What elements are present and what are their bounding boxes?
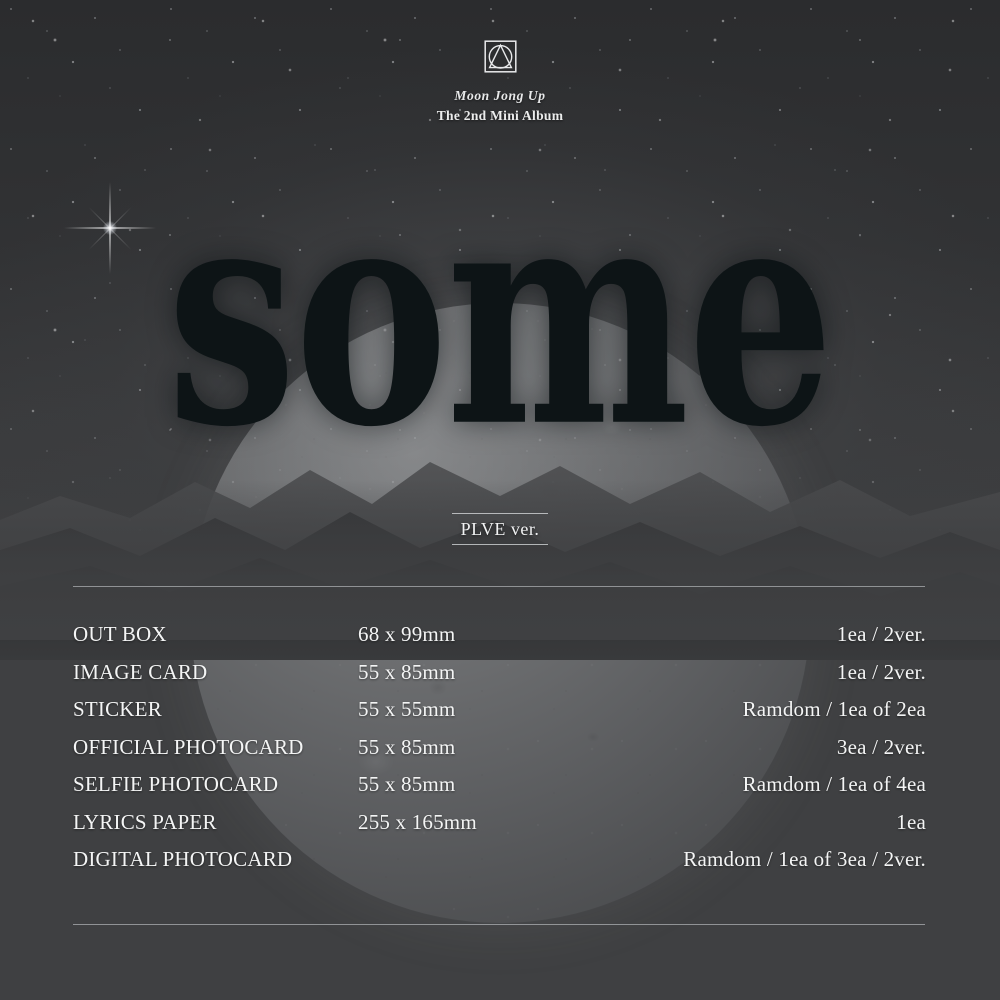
spec-item-quantity: 3ea / 2ver. (638, 735, 926, 760)
version-label: PLVE ver. (0, 514, 1000, 544)
version-rule-bottom (452, 544, 548, 545)
spec-row: OFFICIAL PHOTOCARD55 x 85mm3ea / 2ver. (73, 735, 926, 773)
spec-item-size: 55 x 85mm (358, 735, 638, 760)
triangle-in-circle-in-square-logo-icon (484, 40, 517, 73)
spec-item-name: IMAGE CARD (73, 660, 358, 685)
spec-row: LYRICS PAPER255 x 165mm1ea (73, 810, 926, 848)
spec-item-quantity: Ramdom / 1ea of 3ea / 2ver. (638, 847, 926, 872)
spec-item-quantity: 1ea / 2ver. (638, 660, 926, 685)
album-subtitle: The 2nd Mini Album (0, 108, 1000, 124)
spec-item-quantity: 1ea / 2ver. (638, 622, 926, 647)
spec-row: DIGITAL PHOTOCARDRamdom / 1ea of 3ea / 2… (73, 847, 926, 885)
spec-divider-top (73, 586, 925, 587)
spec-item-size: 255 x 165mm (358, 810, 638, 835)
spec-item-quantity: Ramdom / 1ea of 4ea (638, 772, 926, 797)
spec-item-size: 55 x 55mm (358, 697, 638, 722)
spec-item-name: OFFICIAL PHOTOCARD (73, 735, 358, 760)
spec-row: SELFIE PHOTOCARD55 x 85mmRamdom / 1ea of… (73, 772, 926, 810)
spec-item-quantity: Ramdom / 1ea of 2ea (638, 697, 926, 722)
artist-name: Moon Jong Up (0, 88, 1000, 104)
header-block: Moon Jong Up The 2nd Mini Album (0, 40, 1000, 124)
spec-item-name: SELFIE PHOTOCARD (73, 772, 358, 797)
horizon-mist (0, 480, 1000, 640)
spec-item-name: DIGITAL PHOTOCARD (73, 847, 358, 872)
spec-item-name: OUT BOX (73, 622, 358, 647)
spec-item-name: STICKER (73, 697, 358, 722)
spec-table: OUT BOX68 x 99mm1ea / 2ver.IMAGE CARD55 … (73, 622, 926, 885)
spec-item-size: 55 x 85mm (358, 660, 638, 685)
album-spec-poster: Moon Jong Up The 2nd Mini Album some PLV… (0, 0, 1000, 1000)
spec-item-size: 55 x 85mm (358, 772, 638, 797)
spec-item-quantity: 1ea (638, 810, 926, 835)
spec-item-size: 68 x 99mm (358, 622, 638, 647)
spec-divider-bottom (73, 924, 925, 925)
version-badge: PLVE ver. (0, 513, 1000, 545)
spec-row: IMAGE CARD55 x 85mm1ea / 2ver. (73, 660, 926, 698)
spec-row: OUT BOX68 x 99mm1ea / 2ver. (73, 622, 926, 660)
spec-row: STICKER55 x 55mmRamdom / 1ea of 2ea (73, 697, 926, 735)
spec-item-name: LYRICS PAPER (73, 810, 358, 835)
